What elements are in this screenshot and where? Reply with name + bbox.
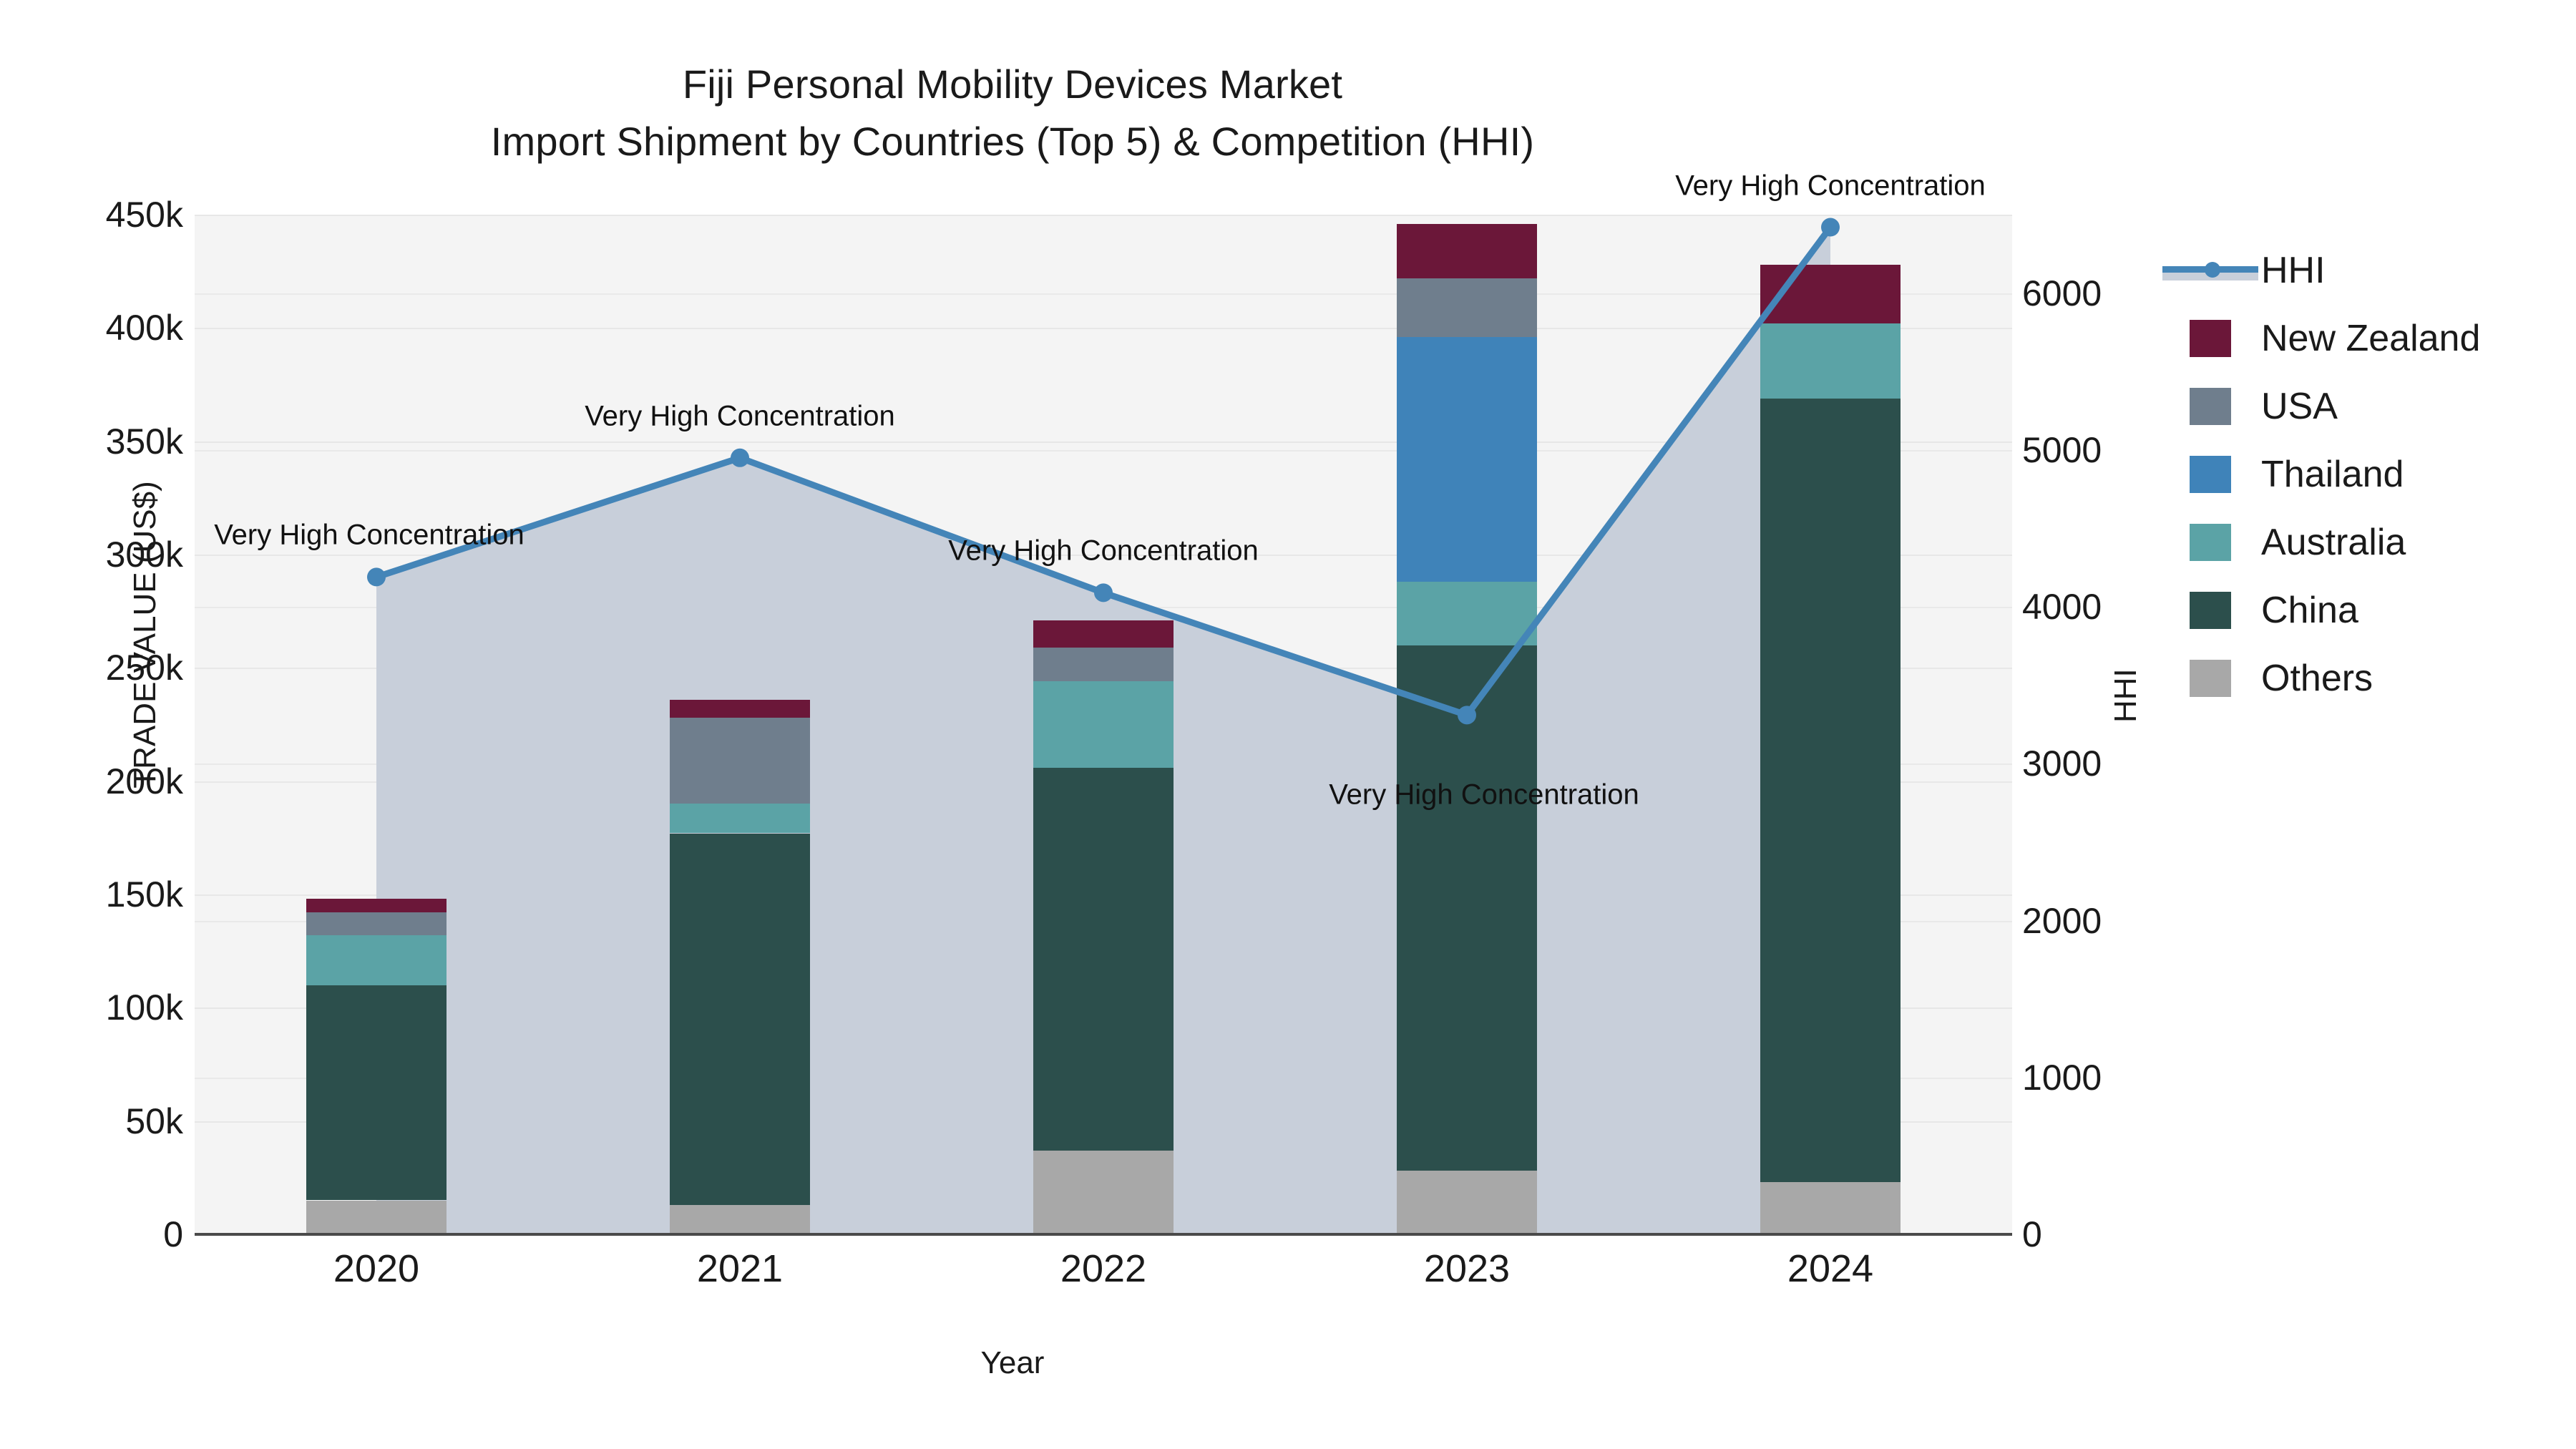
y-axis-right-ticks: 0100020003000400050006000	[2022, 0, 2237, 1449]
y-tick-left-label: 450k	[106, 194, 183, 235]
x-tick-label: 2021	[697, 1246, 783, 1291]
chart-title: Fiji Personal Mobility Devices Market Im…	[0, 56, 2025, 170]
legend-item-label: New Zealand	[2261, 317, 2480, 360]
legend-item[interactable]: USA	[2190, 372, 2480, 440]
title-line-2: Import Shipment by Countries (Top 5) & C…	[0, 113, 2025, 170]
x-tick-label: 2022	[1060, 1246, 1146, 1291]
y-tick-right-label: 4000	[2022, 586, 2102, 628]
legend-color-swatch	[2190, 388, 2231, 425]
hhi-marker[interactable]	[1458, 706, 1476, 724]
y-tick-right-label: 5000	[2022, 429, 2102, 471]
plot-area	[195, 215, 2012, 1234]
annotation-label: Very High Concentration	[214, 519, 525, 552]
legend-item-label: USA	[2261, 385, 2338, 428]
title-line-1: Fiji Personal Mobility Devices Market	[0, 56, 2025, 113]
legend-line-icon	[2190, 252, 2231, 289]
y-tick-right-label: 6000	[2022, 273, 2102, 314]
legend-line-marker	[2205, 262, 2220, 278]
y-tick-right-label: 3000	[2022, 743, 2102, 784]
hhi-marker[interactable]	[1821, 218, 1840, 237]
legend-color-swatch	[2190, 524, 2231, 561]
legend-item-label: China	[2261, 589, 2358, 632]
y-tick-left-label: 100k	[106, 987, 183, 1028]
legend-item-label: Thailand	[2261, 453, 2404, 496]
y-axis-left-label: TRADE VALUE (US$)	[127, 481, 163, 789]
annotation-label: Very High Concentration	[948, 535, 1259, 567]
y-tick-left-label: 0	[163, 1214, 183, 1255]
legend-item[interactable]: HHI	[2190, 236, 2480, 304]
x-tick-label: 2020	[333, 1246, 419, 1291]
annotation-label: Very High Concentration	[585, 400, 895, 432]
legend-item[interactable]: Thailand	[2190, 440, 2480, 508]
legend-color-swatch	[2190, 456, 2231, 493]
hhi-line	[376, 228, 1830, 716]
legend-color-swatch	[2190, 320, 2231, 357]
chart-page: Fiji Personal Mobility Devices Market Im…	[0, 0, 2576, 1449]
hhi-marker[interactable]	[367, 567, 386, 586]
y-tick-left-label: 150k	[106, 874, 183, 915]
hhi-line-layer	[195, 215, 2012, 1234]
y-axis-right-label: HHI	[2108, 668, 2144, 723]
legend-item[interactable]: China	[2190, 576, 2480, 644]
annotation-label: Very High Concentration	[1329, 779, 1639, 811]
x-axis-label: Year	[0, 1345, 2025, 1381]
y-tick-left-label: 350k	[106, 421, 183, 462]
y-tick-right-label: 2000	[2022, 900, 2102, 942]
legend-color-swatch	[2190, 592, 2231, 629]
y-tick-right-label: 0	[2022, 1214, 2042, 1255]
chart-legend: HHINew ZealandUSAThailandAustraliaChinaO…	[2190, 236, 2480, 712]
legend-item-label: Australia	[2261, 521, 2406, 564]
x-tick-label: 2023	[1424, 1246, 1510, 1291]
legend-item[interactable]: New Zealand	[2190, 304, 2480, 372]
hhi-marker[interactable]	[731, 449, 749, 467]
x-axis-baseline	[195, 1233, 2012, 1236]
hhi-marker[interactable]	[1094, 583, 1113, 602]
plot-inner	[195, 215, 2012, 1234]
legend-item[interactable]: Others	[2190, 644, 2480, 712]
legend-color-swatch	[2190, 660, 2231, 697]
annotation-label: Very High Concentration	[1675, 170, 1986, 202]
legend-item-label: Others	[2261, 657, 2373, 700]
y-tick-left-label: 400k	[106, 307, 183, 348]
y-tick-right-label: 1000	[2022, 1057, 2102, 1098]
x-tick-label: 2024	[1787, 1246, 1873, 1291]
y-tick-left-label: 50k	[125, 1101, 183, 1142]
legend-item[interactable]: Australia	[2190, 508, 2480, 576]
legend-item-label: HHI	[2261, 249, 2326, 292]
